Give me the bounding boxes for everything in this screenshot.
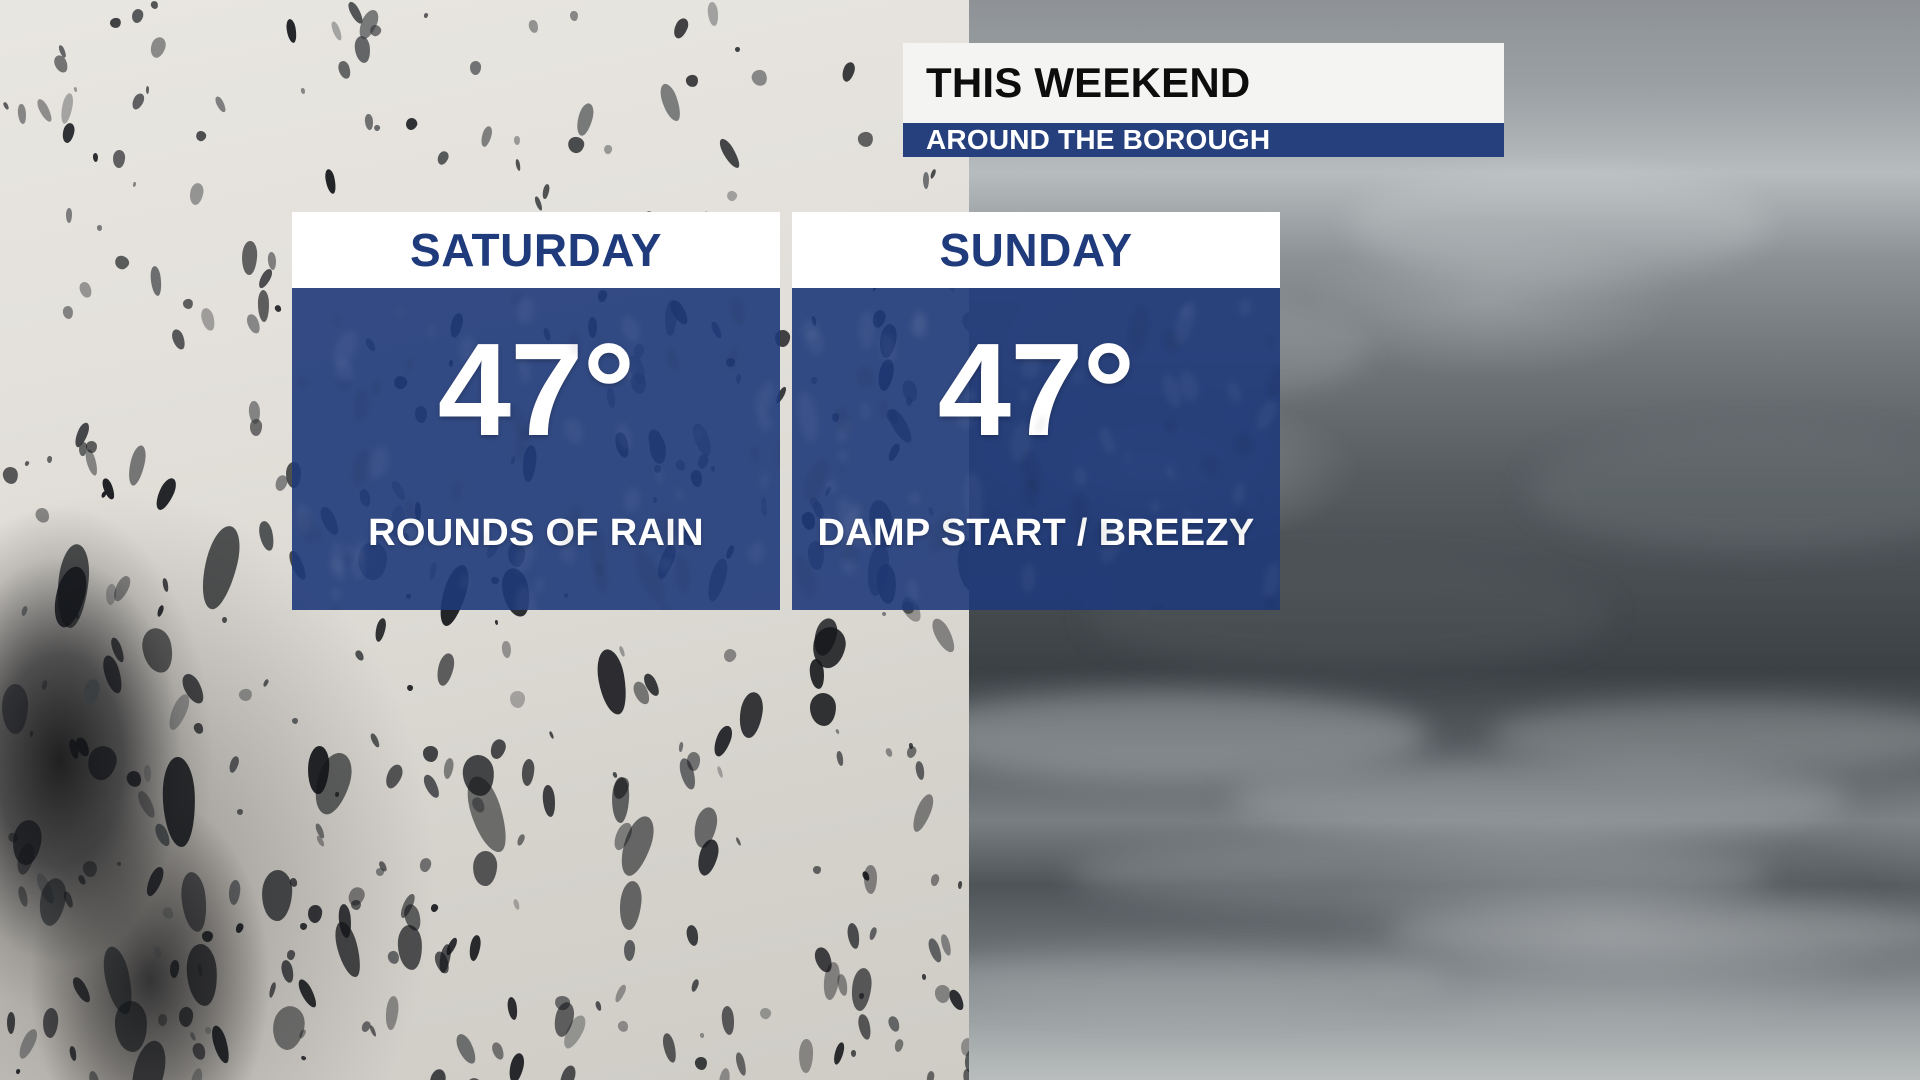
forecast-body-sunday: 47° DAMP START / BREEZY — [792, 288, 1280, 610]
day-header-saturday: SATURDAY — [292, 212, 780, 288]
header-subtitle-bar: AROUND THE BOROUGH — [903, 123, 1504, 157]
header-title-bar: THIS WEEKEND — [903, 43, 1504, 123]
forecast-card-saturday: SATURDAY 47° ROUNDS OF RAIN — [292, 212, 780, 610]
day-label: SATURDAY — [410, 227, 662, 273]
forecast-body-saturday: 47° ROUNDS OF RAIN — [292, 288, 780, 610]
day-label: SUNDAY — [939, 227, 1132, 273]
condition-text: DAMP START / BREEZY — [817, 514, 1254, 552]
day-header-sunday: SUNDAY — [792, 212, 1280, 288]
condition-text: ROUNDS OF RAIN — [368, 514, 704, 552]
forecast-card-sunday: SUNDAY 47° DAMP START / BREEZY — [792, 212, 1280, 610]
weather-graphic: THIS WEEKEND AROUND THE BOROUGH SATURDAY… — [0, 0, 1920, 1080]
forecast-cards: SATURDAY 47° ROUNDS OF RAIN SUNDAY 47° D… — [292, 212, 1280, 610]
header: THIS WEEKEND AROUND THE BOROUGH — [903, 43, 1504, 157]
header-subtitle: AROUND THE BOROUGH — [926, 126, 1270, 154]
page-title: THIS WEEKEND — [926, 62, 1250, 104]
